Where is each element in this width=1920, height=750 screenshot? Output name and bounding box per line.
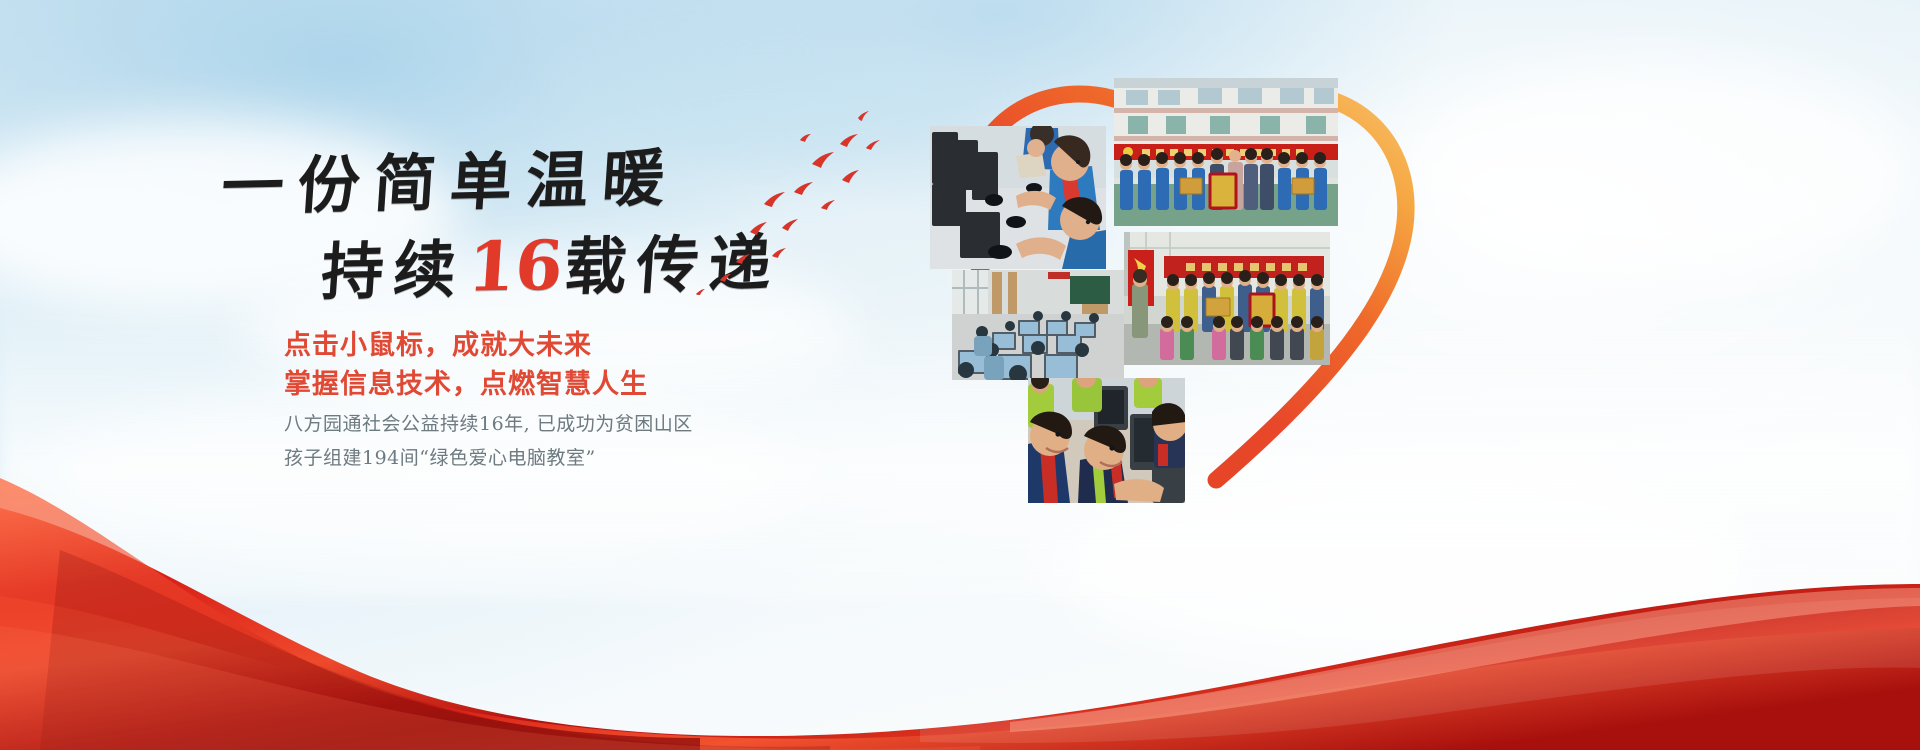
headline-line-1: 一份简单温暖 (220, 147, 681, 219)
photo-4[interactable] (1124, 232, 1330, 365)
headline-years-number: 16 (463, 226, 567, 308)
banner-stage: 一份简单温暖 持续16载传递 点击小鼠标，成就大未来 掌握信息技术，点燃智慧人生… (0, 0, 1920, 750)
photo-2[interactable] (1114, 78, 1338, 226)
subheading: 点击小鼠标，成就大未来 掌握信息技术，点燃智慧人生 (284, 326, 648, 405)
red-ribbon-wave (0, 420, 1920, 750)
subheading-line-2: 掌握信息技术，点燃智慧人生 (284, 365, 648, 404)
headline-line-2-prefix: 持续 (319, 233, 468, 309)
subheading-line-1: 点击小鼠标，成就大未来 (284, 326, 648, 365)
photo-1[interactable] (930, 126, 1106, 269)
photo-3[interactable] (952, 270, 1124, 380)
